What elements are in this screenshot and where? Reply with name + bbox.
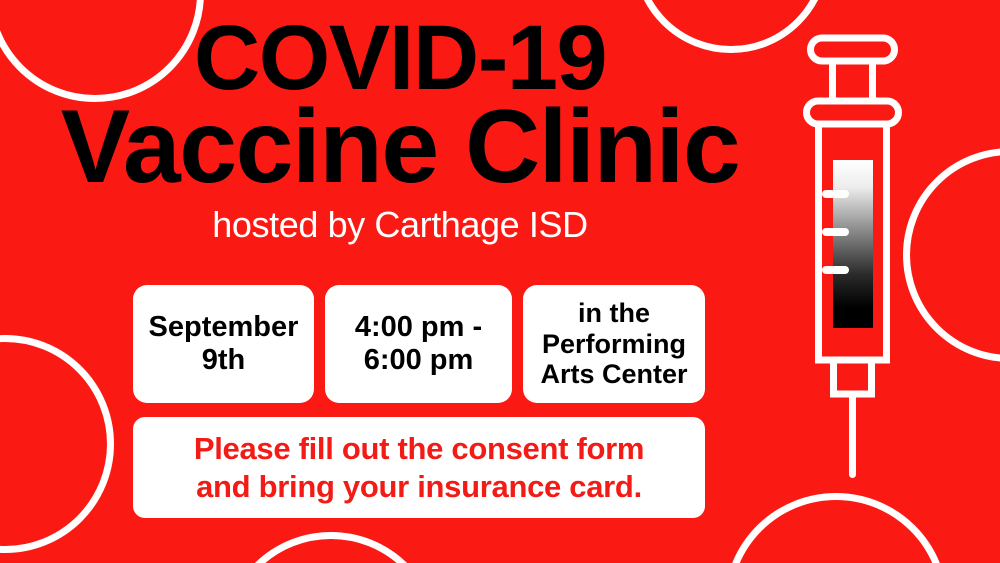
consent-instruction-banner: Please fill out the consent form and bri…: [133, 417, 705, 518]
info-card-date: September 9th: [133, 285, 314, 403]
info-card-row: September 9th 4:00 pm - 6:00 pm in the P…: [133, 285, 705, 403]
decorative-circle-bottom-right-icon: [724, 493, 948, 563]
info-card-location-line-1: in the: [578, 298, 650, 328]
decorative-circle-bottom-middle-icon: [222, 532, 440, 563]
info-card-location-line-3: Arts Center: [540, 359, 687, 389]
info-card-date-line-2: 9th: [202, 344, 246, 376]
page-title-line-2: Vaccine Clinic: [0, 97, 800, 198]
info-card-location-text: in the Performing Arts Center: [540, 298, 687, 390]
info-card-time: 4:00 pm - 6:00 pm: [325, 285, 512, 403]
consent-line-2: and bring your insurance card.: [196, 468, 642, 506]
decorative-circle-right-icon: [903, 148, 1000, 362]
info-card-time-line-1: 4:00 pm -: [355, 311, 482, 343]
covid-vaccine-clinic-poster: COVID-19 Vaccine Clinic hosted by Cartha…: [0, 0, 1000, 563]
syringe-icon: [795, 30, 910, 490]
info-card-time-text: 4:00 pm - 6:00 pm: [355, 311, 482, 377]
headline-block: COVID-19 Vaccine Clinic hosted by Cartha…: [0, 14, 800, 246]
info-card-date-line-1: September: [149, 311, 299, 343]
info-card-location-line-2: Performing: [542, 329, 686, 359]
consent-line-1: Please fill out the consent form: [194, 430, 644, 468]
info-card-time-line-2: 6:00 pm: [364, 344, 474, 376]
decorative-circle-left-icon: [0, 335, 114, 553]
info-card-location: in the Performing Arts Center: [523, 285, 705, 403]
info-card-date-text: September 9th: [149, 311, 299, 377]
subtitle-host: hosted by Carthage ISD: [0, 204, 800, 246]
